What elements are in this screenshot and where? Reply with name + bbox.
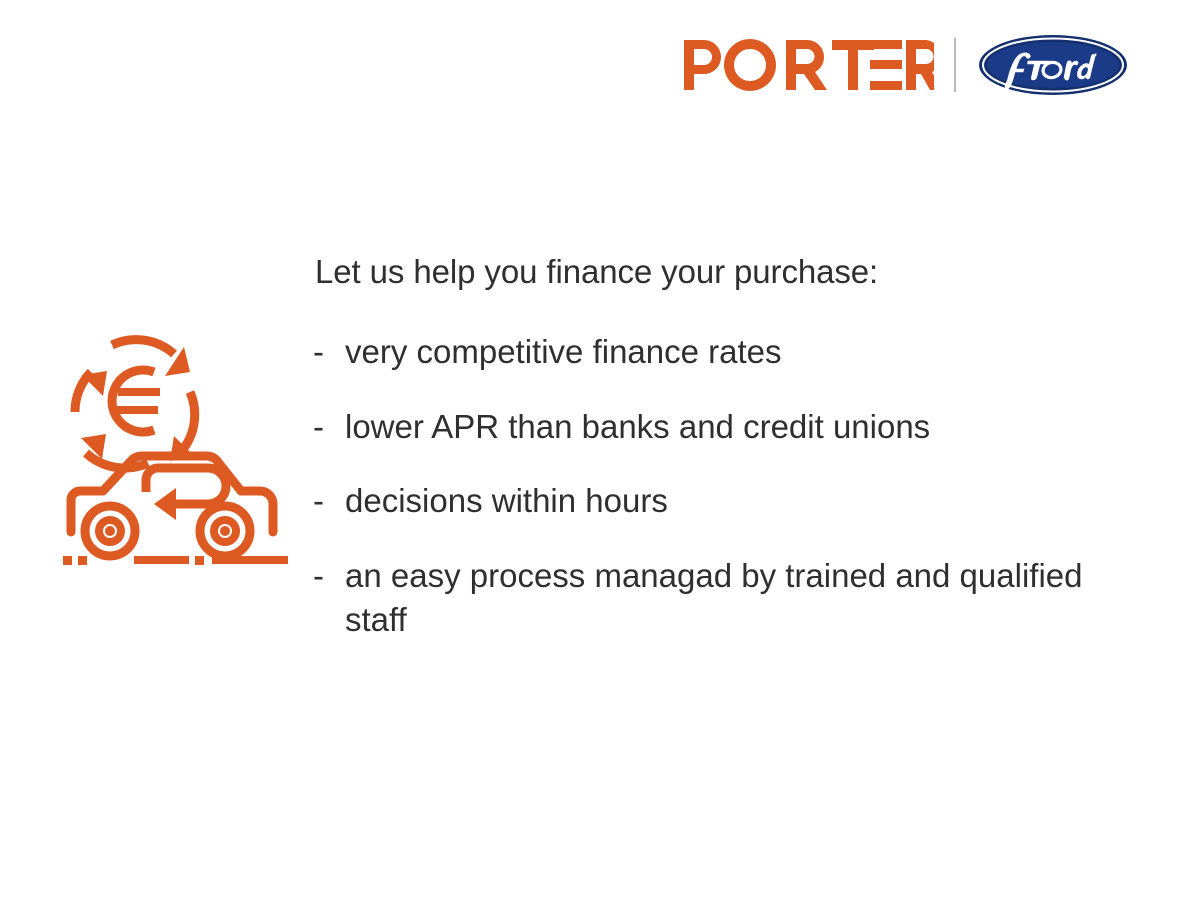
- list-item-label: decisions within hours: [345, 479, 1085, 524]
- porter-wordmark: [684, 38, 934, 92]
- list-item-label: an easy process managad by trained and q…: [345, 554, 1085, 643]
- bullet-marker: -: [313, 405, 345, 450]
- brand-divider: [954, 38, 956, 92]
- ford-logo: [978, 34, 1128, 96]
- list-item: - decisions within hours: [313, 479, 1113, 524]
- car-euro-finance-icon: [58, 326, 294, 578]
- list-item-label: lower APR than banks and credit unions: [345, 405, 1085, 450]
- bullet-marker: -: [313, 554, 345, 599]
- bullet-marker: -: [313, 330, 345, 375]
- finance-slide: Let us help you finance your purchase: -…: [0, 0, 1200, 900]
- list-item: - lower APR than banks and credit unions: [313, 405, 1113, 450]
- list-item: - very competitive finance rates: [313, 330, 1113, 375]
- bullet-marker: -: [313, 479, 345, 524]
- page-title: Let us help you finance your purchase:: [315, 252, 1113, 292]
- list-item-label: very competitive finance rates: [345, 330, 1085, 375]
- brand-lockup: [684, 28, 1128, 102]
- list-item: - an easy process managad by trained and…: [313, 554, 1113, 643]
- slide-content: Let us help you finance your purchase: -…: [313, 252, 1113, 643]
- benefits-list: - very competitive finance rates - lower…: [313, 330, 1113, 643]
